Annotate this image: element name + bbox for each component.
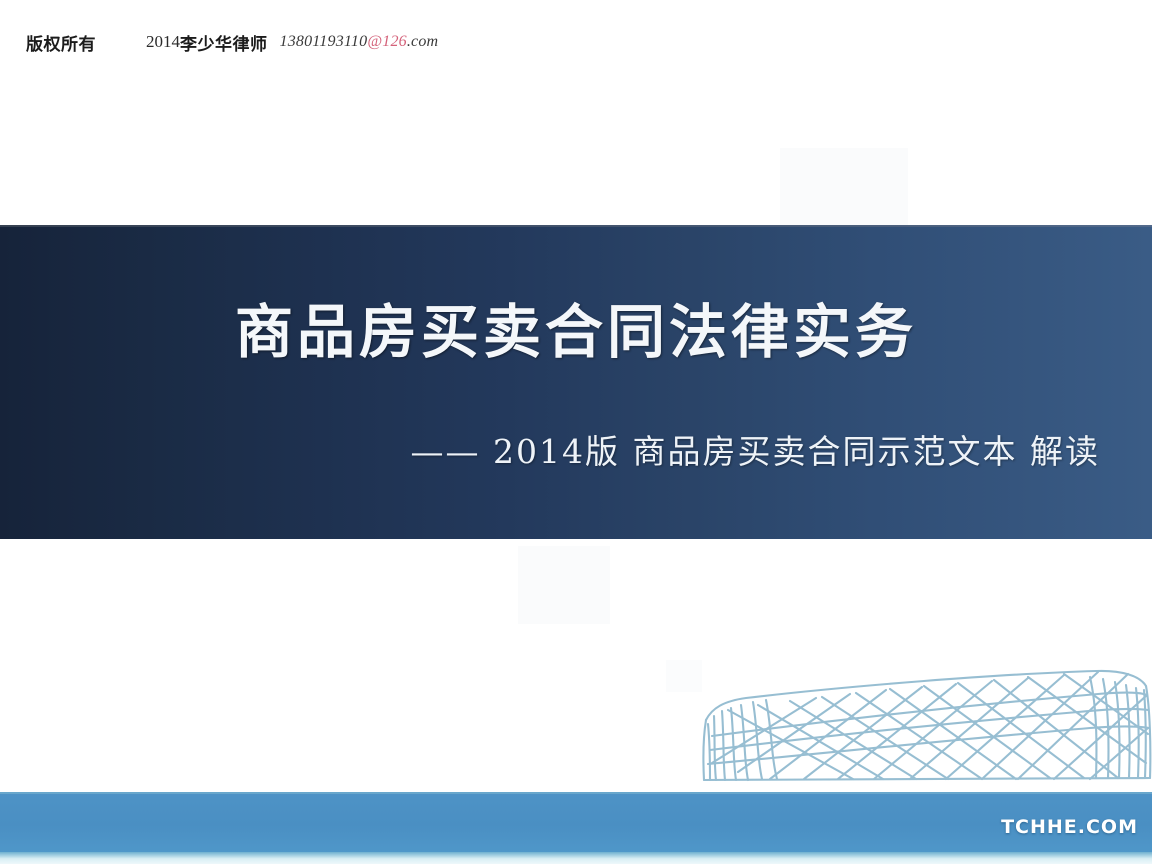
footer-bottom-strip — [0, 852, 1152, 864]
email-tld-part: .com — [407, 33, 438, 50]
presentation-slide: 版权所有 2014 李少华律师 13801193110@126.com 商品房买… — [0, 0, 1152, 864]
email-local-part: 13801193110 — [280, 33, 368, 50]
stadium-illustration — [698, 668, 1152, 794]
footer-bar — [0, 792, 1152, 852]
copyright-owner-label: 版权所有 — [26, 30, 96, 55]
background-artifact-block — [780, 148, 908, 228]
banner-top-edge — [0, 225, 1152, 227]
footer-top-edge — [0, 792, 1152, 794]
background-artifact-block — [518, 546, 610, 624]
page-title: 商品房买卖合同法律实务 — [0, 301, 1152, 365]
background-artifact-block — [666, 660, 702, 692]
site-logo[interactable]: TCHHE.COM — [1001, 816, 1138, 838]
contact-email: 13801193110@126.com — [280, 33, 439, 51]
email-domain-part: @126 — [367, 33, 407, 50]
copyright-header: 版权所有 2014 李少华律师 13801193110@126.com — [0, 25, 1152, 59]
title-banner: 商品房买卖合同法律实务 —— 2014版 商品房买卖合同示范文本 解读 — [0, 225, 1152, 539]
copyright-author-name: 李少华律师 — [180, 30, 268, 55]
stadium-line-art-icon — [698, 668, 1152, 794]
copyright-year: 2014 — [146, 32, 180, 52]
page-subtitle: —— 2014版 商品房买卖合同示范文本 解读 — [0, 425, 1152, 473]
